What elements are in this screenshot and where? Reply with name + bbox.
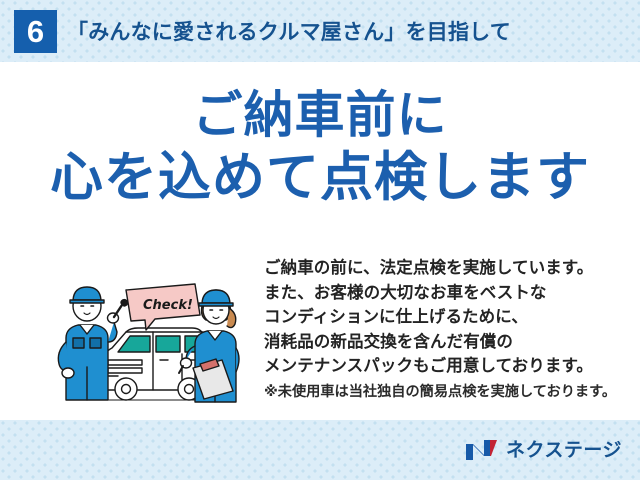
nextage-wordmark: ネクステージ — [506, 441, 622, 460]
header-band: 6 「みんなに愛されるクルマ屋さん」を目指して — [0, 0, 640, 62]
body-line-1: ご納車の前に、法定点検を実施しています。 — [264, 256, 624, 281]
body-line-2: また、お客様の大切なお車をベストな — [264, 281, 624, 306]
check-bubble-text: Check! — [143, 298, 193, 313]
nextage-logo: ネクステージ — [465, 437, 622, 463]
headline-line-1: ご納車前に — [0, 86, 640, 145]
nextage-n-mark-icon — [465, 438, 499, 462]
header-title: 「みんなに愛されるクルマ屋さん」を目指して — [67, 16, 511, 46]
body-copy: ご納車の前に、法定点検を実施しています。 また、お客様の大切なお車をベストな コ… — [264, 256, 624, 404]
body-line-3: コンディションに仕上げるために、 — [264, 305, 624, 330]
headline-line-2: 心を込めて点検します — [0, 147, 640, 210]
body-disclaimer-note: ※未使用車は当社独自の簡易点検を実施しております。 — [264, 381, 624, 404]
advertisement-page: 6 「みんなに愛されるクルマ屋さん」を目指して ご納車前に 心を込めて点検します — [0, 0, 640, 480]
body-line-4: 消耗品の新品交換を含んだ有償の — [264, 330, 624, 355]
content-panel: ご納車前に 心を込めて点検します — [0, 62, 640, 420]
section-number-badge: 6 — [14, 10, 57, 53]
mechanics-illustration: Check! — [52, 272, 257, 407]
body-line-5: メンテナンスパックもご用意しております。 — [264, 354, 624, 379]
check-speech-bubble: Check! — [126, 284, 200, 330]
headline: ご納車前に 心を込めて点検します — [0, 86, 640, 210]
